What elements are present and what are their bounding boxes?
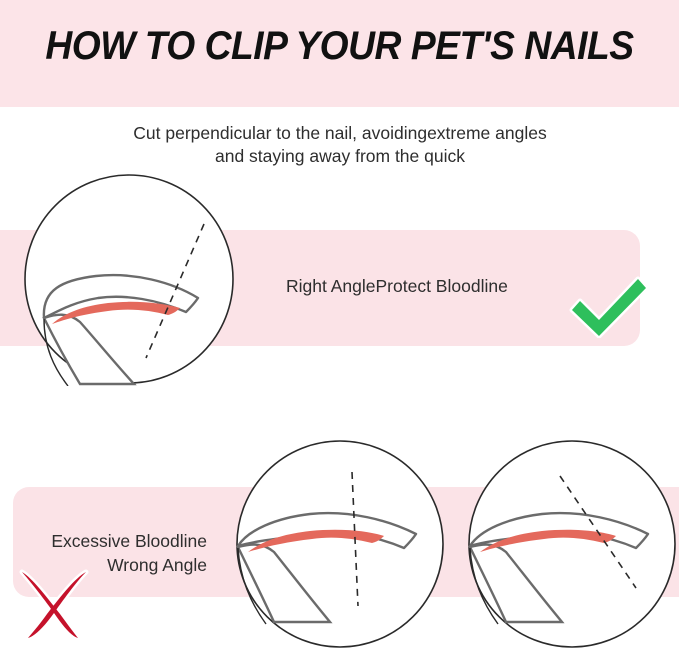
incorrect-label-line-2: Wrong Angle bbox=[107, 555, 207, 575]
cross-icon bbox=[16, 566, 94, 642]
page-title: HOW TO CLIP YOUR PET'S NAILS bbox=[24, 24, 655, 69]
nail-diagram-wrong-angle bbox=[466, 438, 678, 650]
incorrect-label-line-1: Excessive Bloodline bbox=[51, 531, 207, 551]
nail-diagram-excessive-bloodline bbox=[234, 438, 446, 650]
infographic-root: HOW TO CLIP YOUR PET'S NAILS Cut perpend… bbox=[0, 0, 679, 654]
check-icon bbox=[568, 276, 650, 338]
subtitle: Cut perpendicular to the nail, avoidinge… bbox=[60, 122, 620, 168]
correct-row-label: Right AngleProtect Bloodline bbox=[286, 276, 508, 297]
subtitle-line-2: and staying away from the quick bbox=[215, 146, 465, 166]
nail-diagram-correct bbox=[22, 172, 236, 386]
subtitle-line-1: Cut perpendicular to the nail, avoidinge… bbox=[133, 123, 546, 143]
